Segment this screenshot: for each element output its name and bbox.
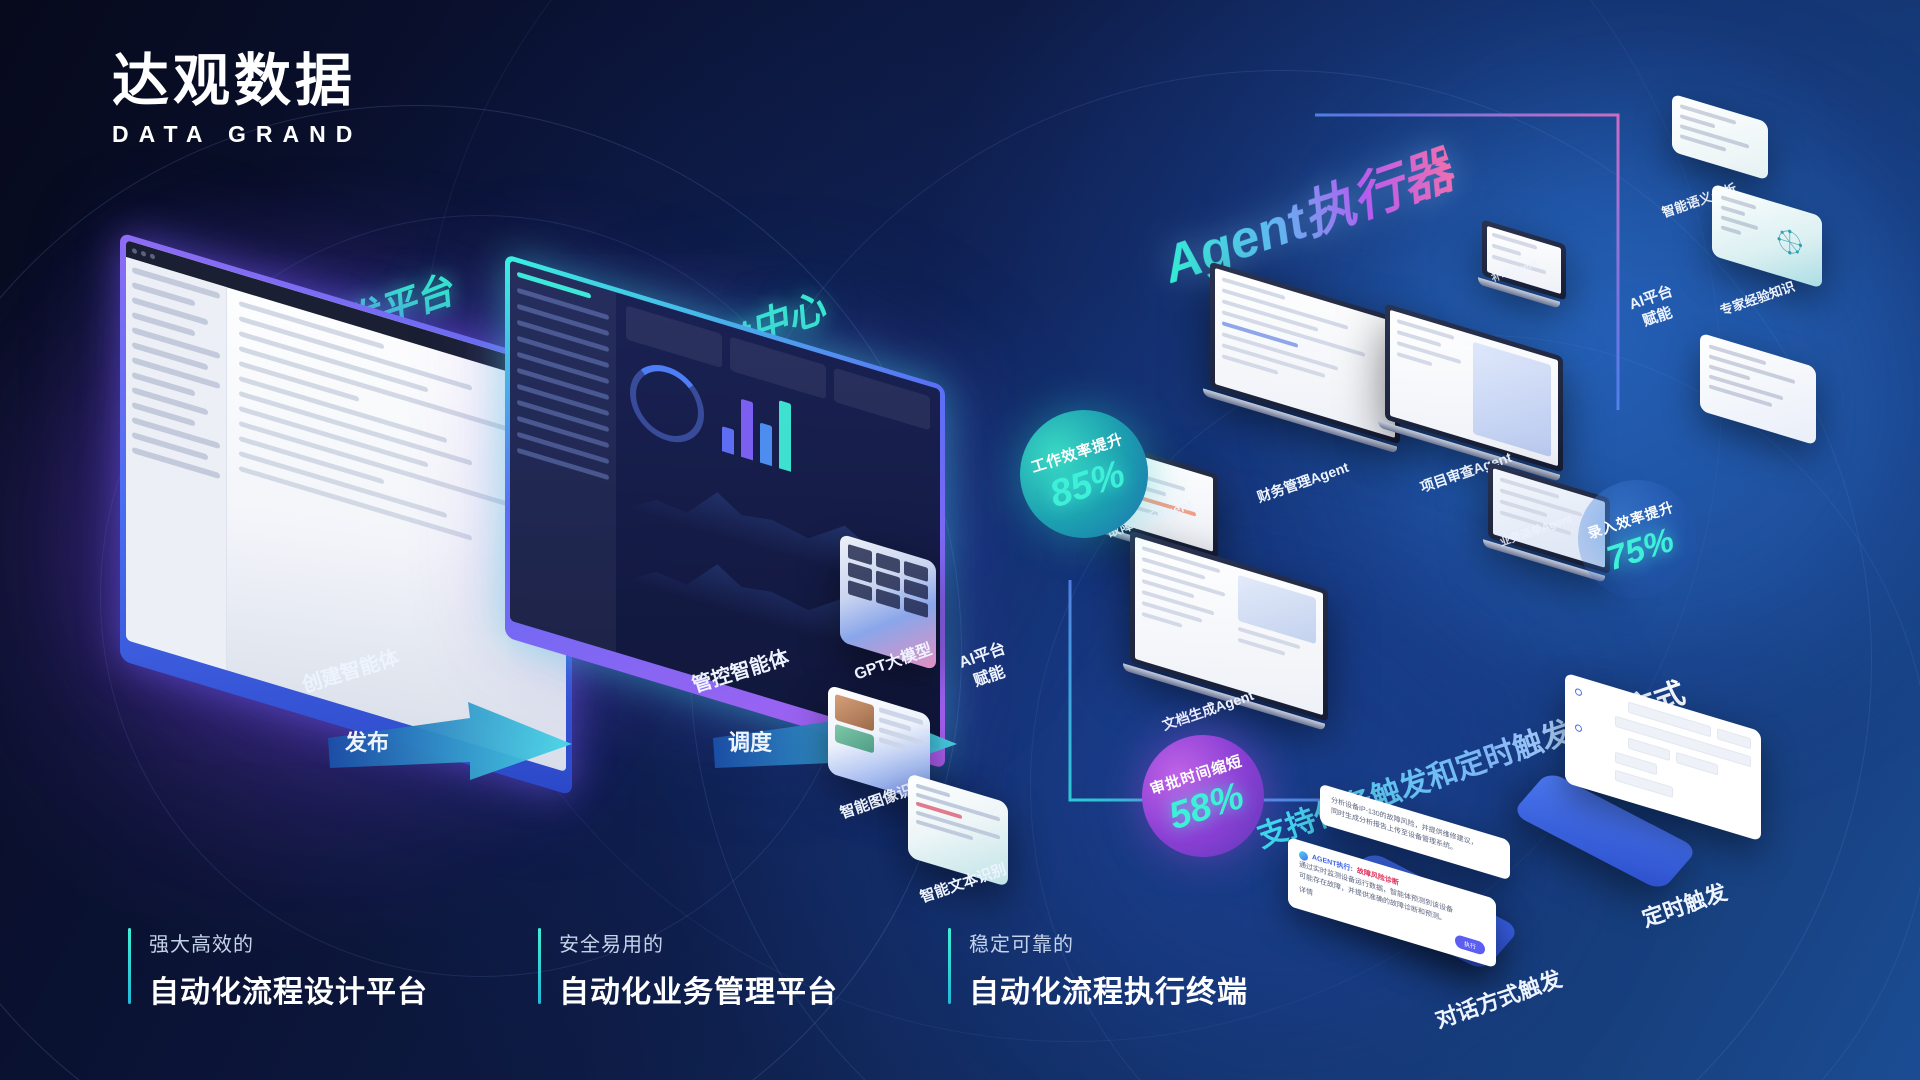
form-label — [1588, 692, 1622, 708]
caption-accent-bar — [538, 928, 541, 1004]
ai-enable-label-left: AI平台 赋能 — [956, 638, 1015, 694]
agent-label-finance: 财务管理Agent — [1254, 457, 1351, 507]
stat-bubble-entry: 录入效率提升 75% — [1563, 465, 1712, 614]
brand-name-en: DATA GRAND — [112, 121, 362, 148]
monitor-dashboard — [616, 292, 940, 749]
infographic-canvas: 达观数据 DATA GRAND Agent开发平台 Multi-Agent中心 … — [0, 0, 1920, 1080]
window-dot — [150, 253, 155, 260]
agent-device-finance — [1210, 262, 1400, 455]
form-label — [1575, 760, 1609, 776]
right-card-extra-sheet — [1700, 333, 1816, 446]
form-label — [1575, 706, 1609, 722]
brand-name-cn: 达观数据 — [112, 52, 362, 111]
caption-accent-bar — [948, 928, 951, 1004]
agent-device-project — [1385, 303, 1563, 482]
ai-card-text-recognition — [908, 773, 1008, 887]
chat-card-line1: 分析设备IP-130的故障风险，并提供维修建议， — [1331, 796, 1499, 857]
stat-bubble-approval: 审批时间缩短 58% — [1126, 719, 1280, 873]
right-card-label-expert: 专家经验知识 — [1717, 276, 1797, 319]
agent-device-supplement — [1482, 219, 1566, 310]
form-input[interactable] — [1717, 728, 1751, 749]
ai-enable-left-line1: AI平台 — [956, 638, 1008, 674]
ai-enable-label-right: AI平台 赋能 — [1627, 282, 1683, 335]
caption-item: 强大高效的 自动化流程设计平台 — [128, 928, 428, 1011]
chat-card-meta[interactable]: 详情 — [1299, 885, 1313, 900]
caption-item: 安全易用的 自动化业务管理平台 — [538, 928, 838, 1011]
window-dot — [132, 248, 137, 255]
right-card-semantic-thumb — [1672, 94, 1768, 181]
gauge-chart — [630, 356, 704, 452]
ai-enable-right-line1: AI平台 — [1627, 282, 1676, 316]
trigger-label-chat: 对话方式触发 — [1430, 961, 1565, 1034]
caption-item: 稳定可靠的 自动化流程执行终端 — [948, 928, 1248, 1011]
window-dot — [141, 251, 146, 258]
monitor-sidebar — [126, 257, 227, 670]
brand-logo: 达观数据 DATA GRAND — [112, 52, 362, 148]
form-label — [1588, 728, 1622, 744]
monitor-sidebar — [510, 261, 616, 653]
caption-big: 自动化流程执行终端 — [969, 967, 1248, 1011]
chat-card-execute-button[interactable]: 执行 — [1455, 933, 1485, 955]
flow-label-dispatch: 调度 — [728, 725, 772, 757]
right-card-expert-knowledge — [1712, 184, 1822, 289]
section-title-executor: Agent执行器 — [1151, 128, 1462, 298]
caption-small: 强大高效的 — [149, 928, 428, 957]
knowledge-graph-icon — [1767, 209, 1813, 277]
caption-small: 安全易用的 — [559, 928, 838, 957]
ai-enable-right-line2: 赋能 — [1633, 301, 1682, 335]
bottom-captions: 强大高效的 自动化流程设计平台 安全易用的 自动化业务管理平台 稳定可靠的 自动… — [128, 928, 1248, 1011]
caption-small: 稳定可靠的 — [969, 928, 1248, 957]
radio-icon[interactable] — [1575, 724, 1582, 733]
agent-device-doc — [1130, 530, 1328, 731]
ai-enable-left-line2: 赋能 — [963, 659, 1015, 695]
form-label — [1575, 742, 1609, 758]
bar-chart — [716, 375, 791, 472]
caption-big: 自动化流程设计平台 — [149, 967, 428, 1011]
caption-accent-bar — [128, 928, 131, 1004]
radio-icon[interactable] — [1575, 688, 1582, 697]
caption-big: 自动化业务管理平台 — [559, 967, 838, 1011]
